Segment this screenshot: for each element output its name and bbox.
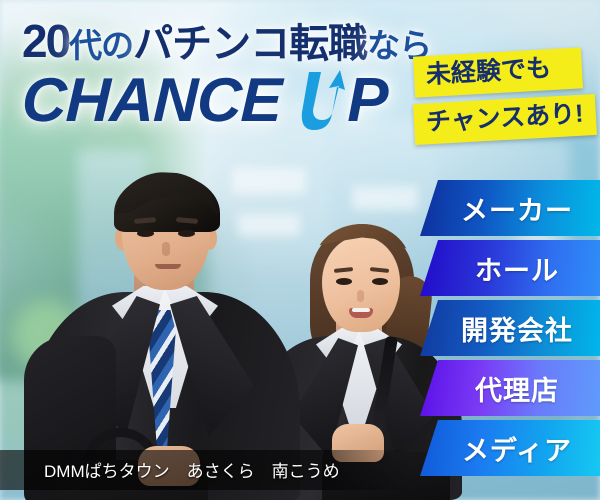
category-bar-list: メーカー ホール 開発会社 代理店 メディア	[420, 180, 600, 480]
badge-line-2: チャンスあり!	[413, 94, 597, 145]
headline-age-suffix: 代の	[69, 27, 133, 64]
badge-no-experience: 未経験でも チャンスあり!	[414, 52, 596, 140]
category-label: 開発会社	[447, 309, 573, 348]
blurred-window	[352, 186, 418, 210]
category-bar-media[interactable]: メディア	[420, 420, 600, 476]
man-mouth	[155, 264, 181, 269]
caption-text: DMMぱちタウン あさくら 南こうめ	[44, 462, 340, 481]
category-label: メーカー	[447, 189, 573, 228]
man-nose	[162, 242, 170, 256]
woman-teeth	[352, 308, 370, 312]
woman-eye-left	[336, 278, 352, 285]
category-bar-developer[interactable]: 開発会社	[420, 300, 600, 356]
logo-u-arrow-icon	[299, 70, 345, 132]
headline-keyword: パチンコ転職	[133, 22, 367, 66]
man-eye-right	[178, 230, 195, 237]
person-man	[30, 160, 300, 500]
category-bar-agency[interactable]: 代理店	[420, 360, 600, 416]
category-bar-hall[interactable]: ホール	[420, 240, 600, 296]
logo-p-letter: P	[347, 70, 388, 132]
category-label: メディア	[448, 429, 572, 468]
banner-ad[interactable]: 20代のパチンコ転職なら CHANCE P 未経験でも チャンスあり! メーカー…	[0, 0, 600, 500]
category-bar-maker[interactable]: メーカー	[420, 180, 600, 236]
headline-group: 20代のパチンコ転職なら CHANCE P	[22, 18, 422, 132]
logo-chance-text: CHANCE	[21, 70, 282, 132]
badge-line-1: 未経験でも	[413, 47, 583, 97]
category-label: 代理店	[461, 369, 559, 408]
logo-chance-up: CHANCE P	[22, 70, 422, 132]
woman-nose	[357, 290, 364, 302]
headline-line-1: 20代のパチンコ転職なら	[22, 18, 422, 64]
woman-eye-right	[372, 278, 388, 285]
headline-age-number: 20	[22, 15, 69, 67]
logo-up-text: P	[299, 70, 388, 132]
category-label: ホール	[461, 249, 559, 288]
man-eye-left	[137, 230, 154, 237]
caption-bar: DMMぱちタウン あさくら 南こうめ	[0, 450, 410, 490]
